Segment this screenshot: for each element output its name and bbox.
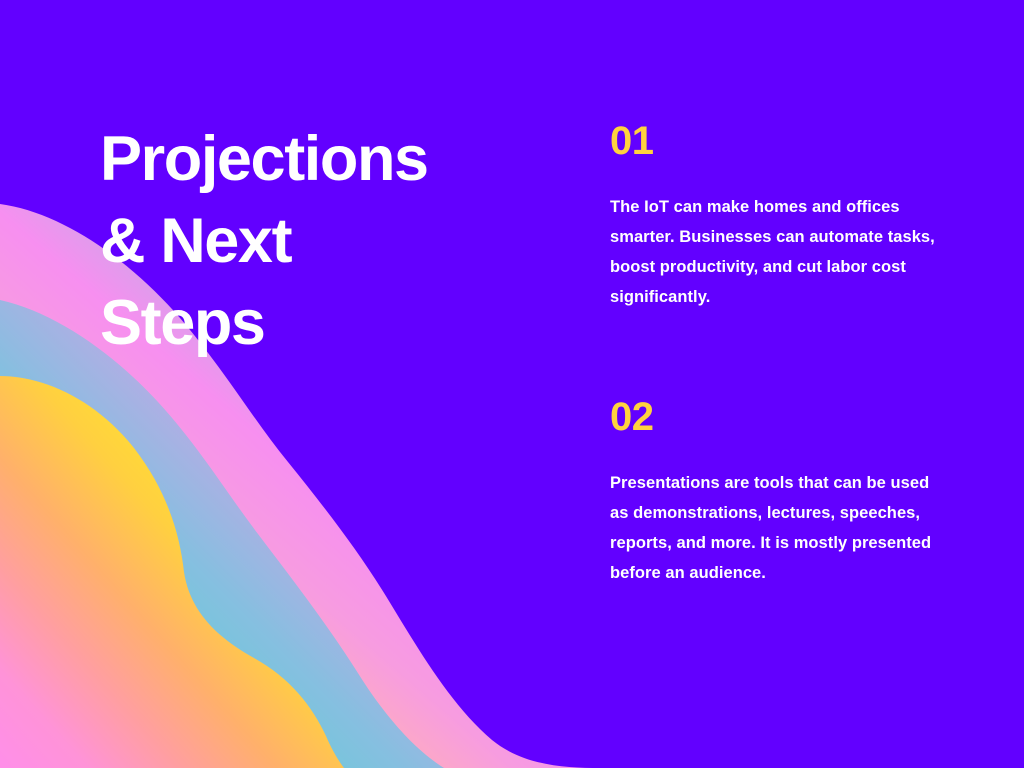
title-line-3: Steps: [100, 282, 570, 364]
slide-title: Projections & Next Steps: [100, 118, 570, 364]
title-line-2: & Next: [100, 200, 570, 282]
content-item-02: 02 Presentations are tools that can be u…: [610, 394, 950, 588]
content-column: 01 The IoT can make homes and offices sm…: [610, 118, 950, 588]
item-body-02: Presentations are tools that can be used…: [610, 468, 950, 588]
presentation-slide: Projections & Next Steps 01 The IoT can …: [0, 0, 1024, 768]
item-number-02: 02: [610, 394, 950, 440]
gradient-wave-inner: [0, 376, 344, 768]
content-item-01: 01 The IoT can make homes and offices sm…: [610, 118, 950, 312]
item-number-01: 01: [610, 118, 950, 164]
item-body-01: The IoT can make homes and offices smart…: [610, 192, 950, 312]
title-line-1: Projections: [100, 118, 570, 200]
gradient-wave-mid: [0, 300, 444, 768]
